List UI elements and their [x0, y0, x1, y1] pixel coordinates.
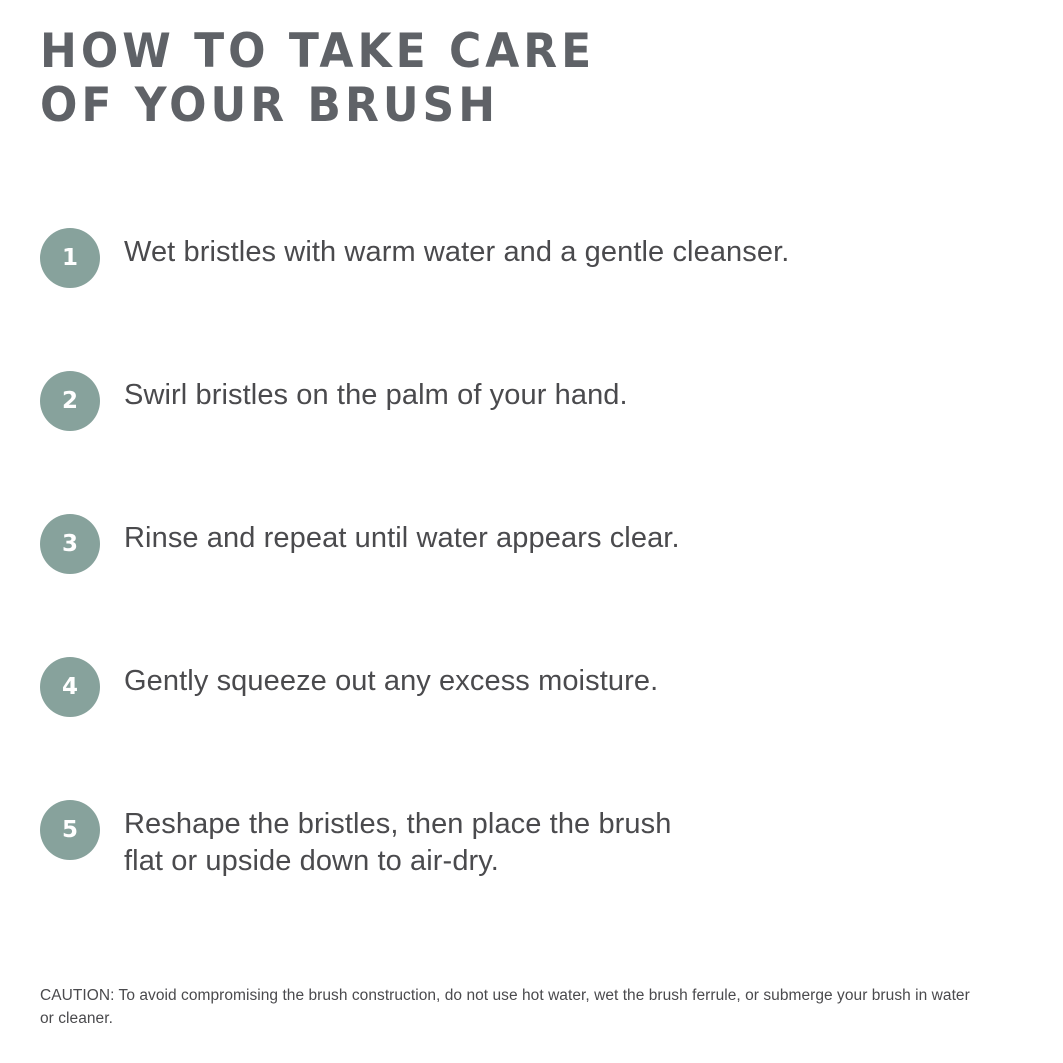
list-item: 4 Gently squeeze out any excess moisture…	[40, 657, 1030, 717]
step-text: Reshape the bristles, then place the bru…	[124, 806, 1030, 880]
list-item: 5 Reshape the bristles, then place the b…	[40, 800, 1030, 880]
step-text: Rinse and repeat until water appears cle…	[124, 520, 1030, 557]
steps-list: 1 Wet bristles with warm water and a gen…	[40, 228, 1030, 880]
care-instructions-card: HOW TO TAKE CARE OF YOUR BRUSH 1 Wet bri…	[0, 0, 1063, 1063]
step-number-badge: 5	[40, 800, 100, 860]
step-number-badge: 1	[40, 228, 100, 288]
step-text: Gently squeeze out any excess moisture.	[124, 663, 1030, 700]
page-title: HOW TO TAKE CARE OF YOUR BRUSH	[40, 28, 1000, 126]
page-title-line-1: HOW TO TAKE CARE	[40, 28, 1000, 76]
caution-note: CAUTION: To avoid compromising the brush…	[40, 984, 980, 1030]
step-number-badge: 2	[40, 371, 100, 431]
step-number-badge: 3	[40, 514, 100, 574]
step-text: Wet bristles with warm water and a gentl…	[124, 234, 1030, 271]
page-title-line-2: OF YOUR BRUSH	[40, 82, 1000, 130]
list-item: 1 Wet bristles with warm water and a gen…	[40, 228, 1030, 288]
step-number-badge: 4	[40, 657, 100, 717]
list-item: 3 Rinse and repeat until water appears c…	[40, 514, 1030, 574]
step-text: Swirl bristles on the palm of your hand.	[124, 377, 1030, 414]
list-item: 2 Swirl bristles on the palm of your han…	[40, 371, 1030, 431]
